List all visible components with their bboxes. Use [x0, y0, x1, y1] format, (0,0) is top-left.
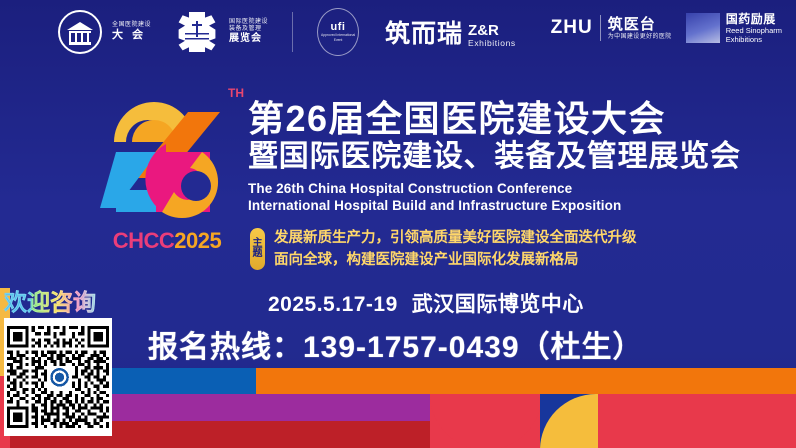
registration-hotline: 报名热线：139-1757-0439（杜生） [148, 322, 644, 366]
ufi-subtitle: Approved International Event [318, 33, 358, 42]
conference-emblem-icon [58, 10, 102, 54]
zhu-divider [600, 15, 601, 41]
left-logo-group: 全国医院建设 大 会 国际医院建设 装备及管理 展览会 ufi Approved… [58, 8, 516, 56]
zr-logo: 筑而瑞 Z&R Exhibitions [385, 14, 516, 50]
partner-logo-bar: 全国医院建设 大 会 国际医院建设 装备及管理 展览会 ufi Approved… [0, 0, 796, 64]
reed-text-block: 国药励展 Reed Sinopharm Exhibitions [726, 12, 782, 44]
bar-orange [256, 368, 796, 394]
right-logo-group: ZHU 筑医台 为中国建设更好的医院 国药励展 Reed Sinopharm E… [551, 12, 782, 44]
reed-chinese-name: 国药励展 [726, 12, 782, 26]
ufi-oval-icon: ufi Approved International Event [317, 8, 359, 56]
chcc-wordmark-year: 2025 [174, 228, 221, 253]
theme-text: 发展新质生产力，引领高质量美好医院建设全面迭代升级 面向全球，构建医院建设产业国… [274, 228, 637, 272]
conference-emblem-line2: 大 会 [112, 29, 151, 42]
chcc-wordmark: CHCC2025 [92, 228, 242, 254]
qr-panel: 欢迎咨询 [0, 288, 114, 448]
reed-sinopharm-logo: 国药励展 Reed Sinopharm Exhibitions [686, 12, 782, 44]
bottom-color-bars [0, 368, 796, 448]
headline-block: 第26届全国医院建设大会 暨国际医院建设、装备及管理展览会 The 26th C… [248, 100, 788, 214]
zr-english-block: Z&R Exhibitions [468, 23, 516, 50]
conference-emblem-line1: 全国医院建设 [112, 22, 151, 29]
zhu-logo: ZHU 筑医台 为中国建设更好的医院 [551, 15, 672, 41]
reed-english-line2: Exhibitions [726, 35, 782, 44]
headline-en-line1: The 26th China Hospital Construction Con… [248, 180, 788, 197]
zr-english-sub: Exhibitions [468, 39, 516, 48]
logo-divider [292, 12, 293, 52]
reed-sinopharm-mark-icon [686, 13, 720, 43]
ufi-title: ufi [331, 21, 346, 33]
zr-english-main: Z&R [468, 23, 516, 39]
conference-emblem-text: 全国医院建设 大 会 [112, 22, 151, 42]
chcc-wordmark-prefix: CHCC [113, 228, 175, 253]
zhu-text-block: 筑医台 为中国建设更好的医院 [608, 16, 672, 41]
theme-line1: 发展新质生产力，引领高质量美好医院建设全面迭代升级 [274, 228, 637, 250]
reed-english-line1: Reed Sinopharm [726, 26, 782, 35]
qr-code[interactable] [4, 318, 112, 436]
zhu-slogan: 为中国建设更好的医院 [608, 34, 672, 41]
theme-line2: 面向全球，构建医院建设产业国际化发展新格局 [274, 250, 637, 272]
ordinal-superscript: TH [228, 86, 244, 100]
exhibition-emblem-line3: 展览会 [229, 33, 268, 45]
event-dateline: 2025.5.17-19武汉国际博览中心 [268, 288, 584, 318]
headline-en-line2: International Hospital Build and Infrast… [248, 197, 788, 214]
theme-badge-char2: 题 [253, 249, 263, 260]
zhu-chinese-name: 筑医台 [608, 16, 672, 34]
event-date: 2025.5.17-19 [268, 293, 398, 316]
exhibition-emblem-text: 国际医院建设 装备及管理 展览会 [229, 19, 268, 44]
exhibition-emblem-line2: 装备及管理 [229, 26, 268, 33]
promo-banner: 全国医院建设 大 会 国际医院建设 装备及管理 展览会 ufi Approved… [0, 0, 796, 448]
zhu-wordmark: ZHU [551, 17, 593, 39]
theme-block: 主 题 发展新质生产力，引领高质量美好医院建设全面迭代升级 面向全球，构建医院建… [250, 228, 637, 272]
event-venue: 武汉国际博览中心 [412, 293, 584, 316]
theme-badge: 主 题 [250, 228, 265, 270]
exhibition-snowflake-icon [175, 10, 219, 54]
zr-chinese-name: 筑而瑞 [385, 14, 463, 50]
welcome-text: 欢迎咨询 [4, 288, 114, 316]
headline-cn-line1: 第26届全国医院建设大会 [248, 100, 788, 138]
headline-cn-line2: 暨国际医院建设、装备及管理展览会 [248, 140, 788, 174]
chcc-26-logo-icon: TH [92, 90, 242, 220]
